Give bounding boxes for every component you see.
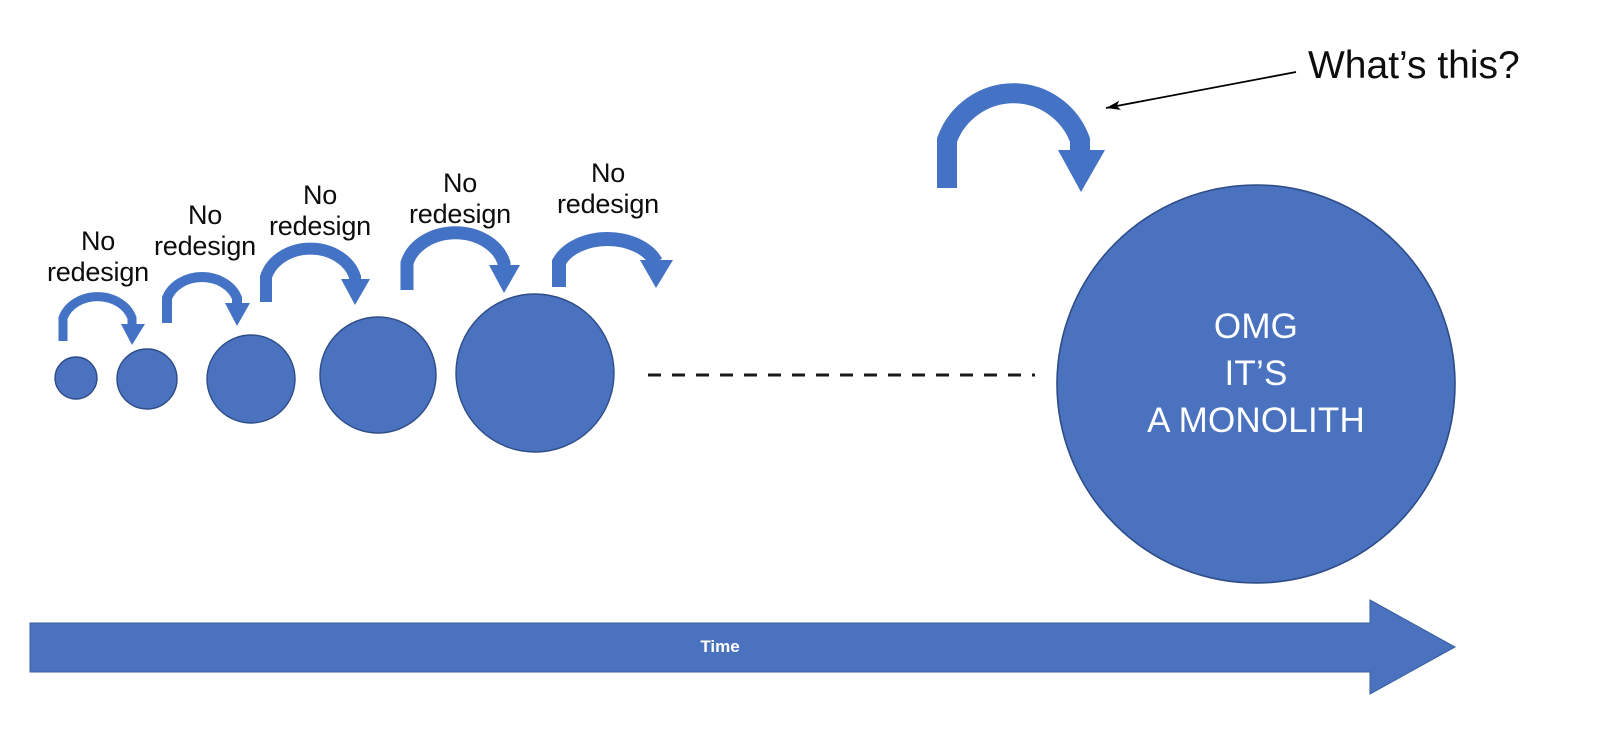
growth-arrow-2 <box>167 277 250 326</box>
label-no-redesign-5: No redesign <box>556 158 660 220</box>
growth-arrow-4 <box>407 233 520 293</box>
callout-pointer-line <box>1106 72 1296 108</box>
label-no-redesign-2: No redesign <box>153 200 257 262</box>
label-no-redesign-4: No redesign <box>408 168 512 230</box>
time-axis-label: Time <box>620 637 820 657</box>
growth-circle-1 <box>55 357 97 399</box>
mystery-arrow <box>947 93 1105 192</box>
growth-circle-2 <box>117 349 177 409</box>
growth-arrow-3 <box>266 249 370 305</box>
label-no-redesign-3: No redesign <box>268 180 372 242</box>
growth-arrow-1 <box>63 297 145 345</box>
label-no-redesign-1: No redesign <box>46 226 150 288</box>
diagram-canvas: No redesign No redesign No redesign No r… <box>0 0 1600 746</box>
monolith-label: OMG IT’S A MONOLITH <box>1056 303 1456 444</box>
growth-circle-3 <box>207 335 295 423</box>
growth-circle-5 <box>456 294 614 452</box>
whats-this-label: What’s this? <box>1308 44 1520 88</box>
growth-arrow-5 <box>559 239 673 288</box>
growth-circle-4 <box>320 317 436 433</box>
